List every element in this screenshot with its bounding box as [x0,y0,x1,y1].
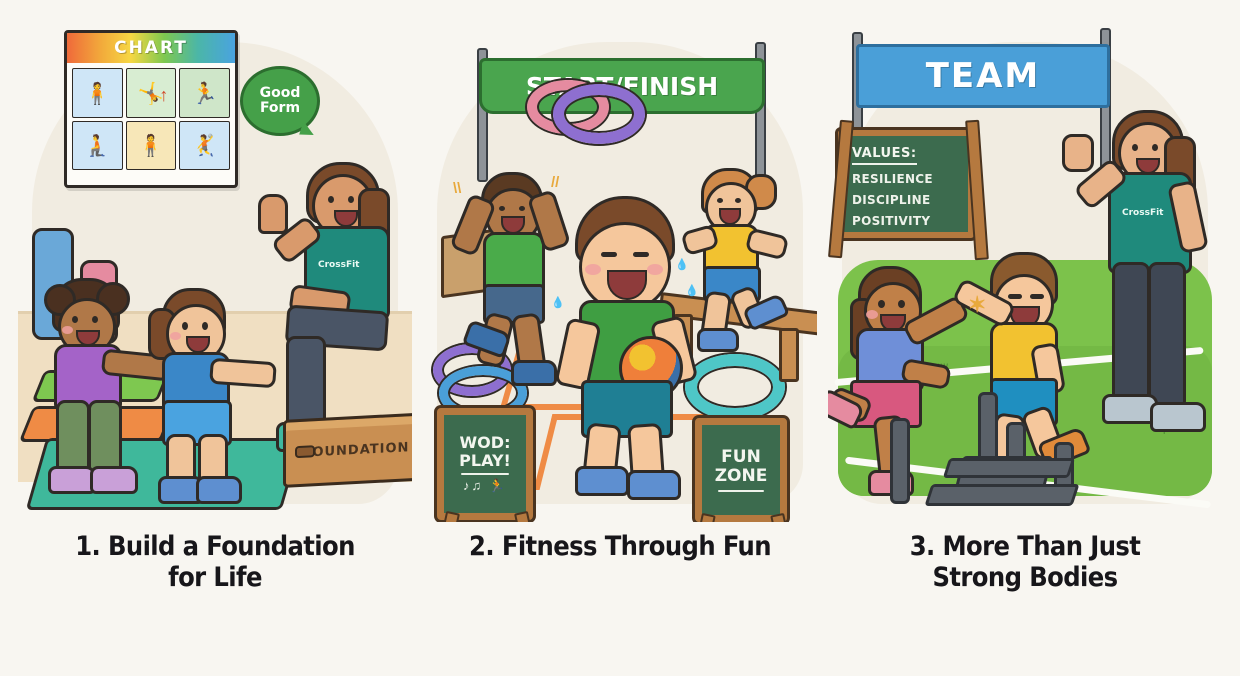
fun-zone-rule [718,490,764,492]
sweat-drop-1: 💧 [675,258,689,271]
kid1-shoe-left [48,466,96,494]
poster-cell-hinge: 🧍 [126,121,177,171]
kid5-eye-left [601,252,617,257]
kid1-cheek [62,326,73,334]
kid5-shoe-left [575,466,629,496]
values-item-3: POSITIVITY [852,214,968,228]
sled-rail-front [924,484,1079,506]
kid3-eye-left [499,206,505,211]
thumbs-up-icon [1062,134,1094,172]
fun-zone-line-2: ZONE [715,467,768,486]
kid2-cheek [170,332,181,340]
panel-1-caption-line-1: 1. Build a Foundation [18,532,412,563]
sparkle-icon-1: \\ [453,180,461,197]
kid4-eye-right [735,198,741,203]
throw-figure-icon: 🤾 [192,136,218,157]
coach3-leg-left [1112,262,1150,410]
poster-cell-squat: 🧍 [72,68,123,118]
poster-grid: 🧍 🤸↑ 🏃 🧎 🧍 🤾 [67,63,235,175]
kid3-eye-right [519,206,525,211]
ring-purple-2 [553,84,645,144]
wod-sign-doodles-icon: ♪♫ 🏃 [463,478,507,494]
kid5-shoe-right [627,470,681,500]
plyo-box-label: FOUNDATION [303,440,410,461]
kid6-eye-right [898,300,905,308]
squat-figure-icon: 🧍 [84,83,110,104]
kid5-cheek-left [585,264,601,275]
panel-2-caption: 2. Fitness Through Fun [423,532,817,563]
good-form-speech-bubble: Good Form [240,66,320,136]
coach3-shirt-text: CrossFit [1122,208,1163,218]
panel-2-caption-line-1: 2. Fitness Through Fun [423,532,817,563]
wod-sign-rule [461,473,509,475]
kid-girl-purple [42,282,152,512]
panel-3-caption: 3. More Than Just Strong Bodies [828,532,1222,594]
values-item-2: DISCIPLINE [852,193,968,207]
kid2-eye-right [202,322,208,330]
kid6-cheek [866,310,878,319]
kid2-eye-left [182,322,188,330]
kid3-shoe-right [511,360,557,386]
speech-line-1: Good [260,85,301,101]
coach3-eye-left [1132,144,1138,151]
wod-sign-board: WOD: PLAY! ♪♫ 🏃 [437,408,533,520]
poster-cell-lunge: 🧎 [72,121,123,171]
kid1-eye-right [92,316,98,323]
panel-1-scene: CHART 🧍 🤸↑ 🏃 🧎 🧍 🤾 Good Fo [18,14,412,522]
coach3-leg-right [1148,262,1186,410]
kid-boy-with-ball: 💧 💧 💧 [557,200,717,500]
sled-handle-left [890,418,910,504]
kid4-eye-left [717,198,723,203]
sparkle-icon-2: // [551,174,559,191]
panel-2: START/FINISH [423,14,817,563]
exercise-chart-poster: CHART 🧍 🤸↑ 🏃 🧎 🧍 🤾 [64,30,238,188]
run-figure-icon: 🏃 [192,83,218,104]
up-arrow-icon: ↑ [159,85,168,106]
high-five-sparkle-icon: ✶ [968,292,986,318]
plyo-box: FOUNDATION [283,412,412,488]
team-banner-label: TEAM [926,56,1041,96]
speech-bubble-text: Good Form [260,86,301,115]
lunge-figure-icon: 🧎 [84,136,110,157]
panel-3-caption-line-1: 3. More Than Just [828,532,1222,563]
wod-sign-line-2: PLAY! [459,452,511,470]
sweat-drop-2: 💧 [685,284,699,297]
kid7-eye-right [1030,294,1044,299]
wod-sign-line-1: WOD: [460,434,511,452]
kid2-arm [209,358,277,389]
panel-1: CHART 🧍 🤸↑ 🏃 🧎 🧍 🤾 Good Fo [18,14,412,594]
coach-eye-left [328,196,334,203]
poster-header: CHART [67,33,235,63]
poster-cell-run: 🏃 [179,68,230,118]
hinge-figure-icon: 🧍 [138,136,164,157]
poster-title: CHART [114,38,188,58]
panel-1-caption: 1. Build a Foundation for Life [18,532,412,594]
kid2-shoe-right [196,476,242,504]
kid1-shoe-right [90,466,138,494]
panel-1-caption-line-2: for Life [18,563,412,594]
coach3-shoe-right [1150,402,1206,432]
kid7-eye-left [1008,294,1022,299]
panel-3: \\|/ \\|/ \\|/ \\|/ \\|/ TEAM VALUES: RE… [828,14,1222,594]
fun-zone-line-1: FUN [721,448,761,467]
panel-2-scene: START/FINISH [423,14,817,522]
coach-person-3: CrossFit [1082,112,1214,472]
wod-play-sign: WOD: PLAY! ♪♫ 🏃 [437,408,533,520]
kid5-cheek-right [647,264,663,275]
coach-shirt-text: CrossFit [318,260,359,270]
poster-cell-jump: 🤸↑ [126,68,177,118]
fun-zone-board: FUN ZONE [695,418,787,522]
kid-girl-blue [154,290,274,512]
values-board-title: VALUES: [852,146,917,165]
kid5-eye-right [633,252,649,257]
coach-pointing-hand-icon [258,194,288,234]
coach-eye-right [348,196,354,203]
sled-rail-back [943,458,1075,478]
team-banner: TEAM [856,44,1110,108]
values-chalkboard: VALUES: RESILIENCE DISCIPLINE POSITIVITY [838,130,974,238]
kid6-eye-left [878,300,885,308]
infographic-board: CHART 🧍 🤸↑ 🏃 🧎 🧍 🤾 Good Fo [0,0,1240,676]
coach3-eye-right [1152,144,1158,151]
kid1-eye-left [72,316,78,323]
speech-line-2: Form [260,100,300,116]
panel-3-caption-line-2: Strong Bodies [828,563,1222,594]
fun-zone-sign: FUN ZONE [695,418,787,522]
plyo-box-handle [295,445,315,458]
panel-3-scene: \\|/ \\|/ \\|/ \\|/ \\|/ TEAM VALUES: RE… [828,14,1222,522]
values-item-1: RESILIENCE [852,172,968,186]
sweat-drop-3: 💧 [551,296,565,309]
poster-cell-throw: 🤾 [179,121,230,171]
